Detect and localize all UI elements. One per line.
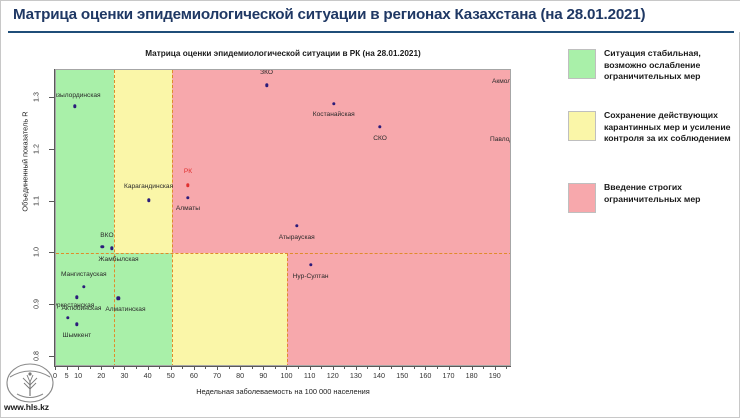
x-axis-tick-label: 30: [120, 371, 128, 380]
y-axis-tick-label: 1.0: [32, 247, 41, 257]
legend-item-1: Сохранение действующих карантинных мер и…: [568, 111, 736, 167]
data-point-label: Костанайская: [313, 111, 355, 118]
legend-label-2: Введение строгих ограничительных мер: [604, 182, 736, 205]
y-axis-tick-label: 1.1: [32, 196, 41, 206]
y-axis-tick: [49, 97, 54, 98]
legend-swatch-1: [568, 111, 596, 141]
data-point-label: ВКО: [100, 232, 113, 239]
zone-yellow-mid-top: [114, 70, 172, 253]
data-point-label: Шымкент: [63, 332, 92, 339]
slide-root: Матрица оценки эпидемиологической ситуац…: [0, 0, 740, 418]
data-point-label: Жамбылская: [98, 256, 138, 263]
legend-item-2: Введение строгих ограничительных мер: [568, 183, 736, 239]
data-point-label: Павлодарская: [490, 136, 511, 143]
legend-swatch-0: [568, 49, 596, 79]
x-axis-tick-label: 60: [190, 371, 198, 380]
data-point-label: Мангистауская: [61, 271, 107, 278]
x-axis-minor-tick: [460, 366, 461, 369]
y-axis-tick: [49, 149, 54, 150]
data-point-label: РК: [184, 168, 192, 175]
x-axis-tick-label: 50: [167, 371, 175, 380]
x-axis-tick: [67, 366, 68, 370]
x-axis-minor-tick: [391, 366, 392, 369]
x-axis-tick-label: 80: [236, 371, 244, 380]
title-bar: Матрица оценки эпидемиологической ситуац…: [1, 1, 740, 32]
x-axis-tick: [379, 366, 380, 370]
x-axis-tick: [402, 366, 403, 370]
x-axis-tick: [472, 366, 473, 370]
y-axis-tick: [49, 304, 54, 305]
x-axis-tick-label: 130: [350, 371, 362, 380]
x-axis-tick: [449, 366, 450, 370]
x-axis-minor-tick: [437, 366, 438, 369]
title-divider: [8, 31, 734, 33]
x-axis-tick-label: 170: [443, 371, 455, 380]
x-axis-tick: [310, 366, 311, 370]
x-axis-minor-tick: [298, 366, 299, 369]
legend-label-0: Ситуация стабильная, возможно ослабление…: [604, 48, 736, 83]
x-axis-minor-tick: [414, 366, 415, 369]
data-point-label: СКО: [373, 135, 387, 142]
site-url[interactable]: www.hls.kz: [4, 402, 49, 412]
x-axis-tick-label: 70: [213, 371, 221, 380]
x-axis-minor-tick: [321, 366, 322, 369]
zone-red-right-bottom: [287, 253, 511, 366]
x-axis-minor-tick: [506, 366, 507, 369]
x-axis-minor-tick: [182, 366, 183, 369]
y-axis-tick: [49, 201, 54, 202]
x-axis-minor-tick: [483, 366, 484, 369]
x-axis-tick-label: 110: [304, 371, 315, 380]
data-point-label: Акмолинская: [492, 78, 511, 85]
y-axis-tick: [49, 356, 54, 357]
x-axis-tick-label: 140: [373, 371, 385, 380]
x-axis-minor-tick: [229, 366, 230, 369]
y-axis-tick-label: 0.8: [32, 351, 41, 361]
x-axis-tick: [101, 366, 102, 370]
x-axis-tick: [333, 366, 334, 370]
x-axis-minor-tick: [367, 366, 368, 369]
page-title: Матрица оценки эпидемиологической ситуац…: [13, 6, 645, 23]
x-axis-tick: [124, 366, 125, 370]
scatter-plot-area: КызылординскаяЗКОАкмолинскаяКостанайская…: [55, 69, 511, 366]
zone-yellow-right-bottom: [172, 253, 288, 366]
x-axis-line: [55, 366, 511, 367]
zone-green-left-top: [56, 70, 114, 366]
data-point-label: Алматы: [176, 205, 200, 212]
x-axis-minor-tick: [90, 366, 91, 369]
y-axis-title: Объединенный показатель R: [21, 92, 30, 232]
x-axis-title: Недельная заболеваемость на 100 000 насе…: [55, 387, 511, 396]
x-axis-tick-label: 180: [466, 371, 478, 380]
x-axis-minor-tick: [275, 366, 276, 369]
x-axis-tick-label: 190: [489, 371, 501, 380]
x-axis-tick-label: 90: [259, 371, 267, 380]
x-axis-minor-tick: [252, 366, 253, 369]
y-axis-line: [54, 69, 55, 367]
x-axis-minor-tick: [136, 366, 137, 369]
x-axis-tick-label: 20: [97, 371, 105, 380]
y-axis-tick-label: 0.9: [32, 299, 41, 309]
chart-title: Матрица оценки эпидемиологической ситуац…: [9, 49, 557, 58]
x-axis-tick: [148, 366, 149, 370]
x-axis-tick: [171, 366, 172, 370]
legend-item-0: Ситуация стабильная, возможно ослабление…: [568, 49, 736, 105]
x-axis-tick: [263, 366, 264, 370]
data-point-label: Кызылординская: [55, 92, 101, 99]
x-axis-tick-label: 120: [327, 371, 339, 380]
x-axis-tick-label: 100: [280, 371, 292, 380]
x-axis-tick: [495, 366, 496, 370]
x-axis-minor-tick: [159, 366, 160, 369]
data-point-label: Нур-Султан: [293, 273, 329, 280]
x-axis-tick-label: 150: [396, 371, 408, 380]
y-axis-tick-label: 1.2: [32, 144, 41, 154]
x-axis-tick: [240, 366, 241, 370]
x-axis-minor-tick: [113, 366, 114, 369]
x-axis-tick: [217, 366, 218, 370]
x-axis-minor-tick: [344, 366, 345, 369]
hls-logo-icon: [3, 363, 57, 405]
data-point-label: Атырауская: [279, 234, 315, 241]
chart-panel: Матрица оценки эпидемиологической ситуац…: [9, 37, 557, 379]
y-axis-tick: [49, 252, 54, 253]
x-axis-tick-label: 160: [419, 371, 431, 380]
y-axis-tick-label: 1.3: [32, 92, 41, 102]
data-point-label: ЗКО: [260, 69, 273, 76]
x-axis-tick: [194, 366, 195, 370]
zone-red-right-top: [172, 70, 511, 253]
data-point-label: Карагандинская: [124, 183, 173, 190]
x-axis-tick: [286, 366, 287, 370]
x-axis-minor-tick: [205, 366, 206, 369]
x-axis-tick-label: 10: [74, 371, 82, 380]
x-axis-tick-label: 5: [65, 371, 69, 380]
legend-label-1: Сохранение действующих карантинных мер и…: [604, 110, 736, 145]
data-point-label: Туркестанская: [55, 302, 94, 309]
data-point-label: Алматинская: [105, 306, 145, 313]
x-axis-tick: [425, 366, 426, 370]
legend-swatch-2: [568, 183, 596, 213]
x-axis-tick: [356, 366, 357, 370]
x-axis-tick-label: 40: [144, 371, 152, 380]
x-axis-tick: [78, 366, 79, 370]
